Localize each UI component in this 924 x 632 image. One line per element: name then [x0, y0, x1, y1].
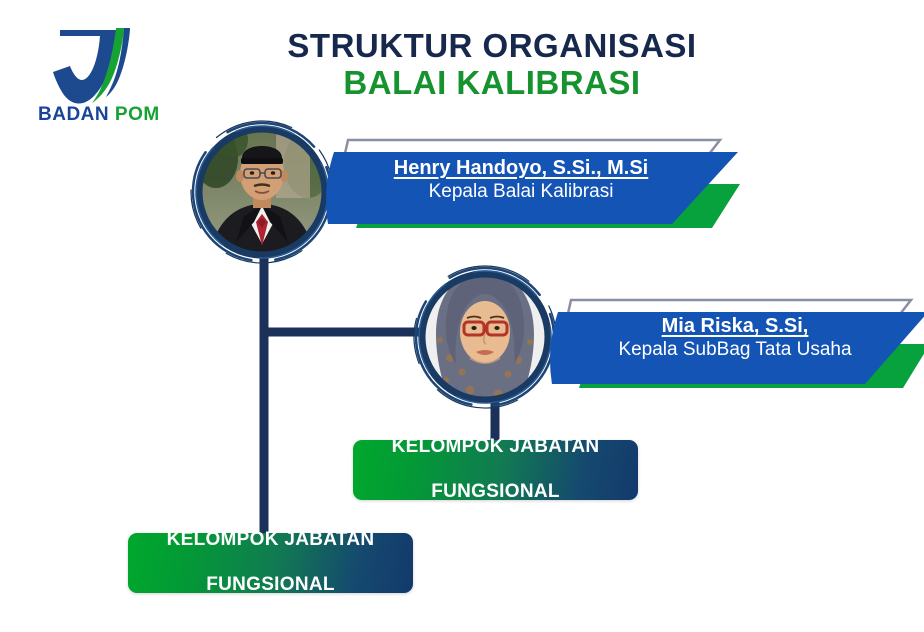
- kjf-balai-line-2: FUNGSIONAL: [155, 574, 387, 596]
- portrait-kepala-balai: [188, 118, 336, 266]
- kjf-tu-line-1: KELOMPOK JABATAN: [380, 436, 612, 458]
- banner-shape-2: [545, 288, 924, 400]
- group-box-kjf-tu[interactable]: KELOMPOK JABATAN FUNGSIONAL: [353, 440, 638, 500]
- kjf-balai-line-1: KELOMPOK JABATAN: [155, 529, 387, 551]
- kjf-tu-line-2: FUNGSIONAL: [380, 481, 612, 503]
- kjf-tu-text: KELOMPOK JABATAN FUNGSIONAL: [368, 436, 624, 503]
- portrait-kepala-subbag-tu: [410, 262, 560, 412]
- name-banner-kepala-balai: Henry Handoyo, S.Si., M.Si Kepala Balai …: [320, 128, 740, 240]
- org-chart-canvas: BADAN POM STRUKTUR ORGANISASI BALAI KALI…: [0, 0, 924, 632]
- group-box-kjf-balai[interactable]: KELOMPOK JABATAN FUNGSIONAL: [128, 533, 413, 593]
- banner-shape-1: [320, 128, 740, 240]
- kjf-balai-text: KELOMPOK JABATAN FUNGSIONAL: [143, 529, 399, 596]
- avatar-mia-riska: [410, 262, 560, 412]
- name-banner-kepala-subbag-tu: Mia Riska, S.Si, Kepala SubBag Tata Usah…: [545, 288, 924, 400]
- avatar-henry-handoyo: [188, 118, 336, 266]
